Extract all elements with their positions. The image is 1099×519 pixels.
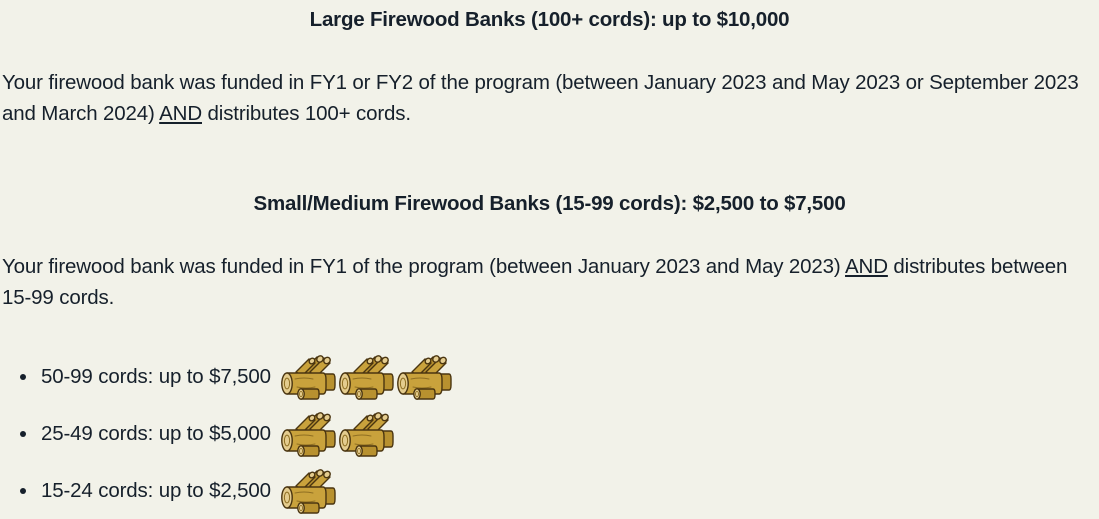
tier-label: 15-24 cords: up to $2,500 (41, 479, 271, 503)
log-group-tier-2 (279, 411, 394, 457)
firewood-bank-funding-tiers-page: Large Firewood Banks (100+ cords): up to… (0, 8, 1099, 516)
firewood-logs-icon (337, 354, 394, 400)
small-medium-banks-heading: Small/Medium Firewood Banks (15-99 cords… (2, 186, 1097, 217)
tier-label: 25-49 cords: up to $5,000 (41, 422, 271, 446)
firewood-logs-icon (337, 411, 394, 457)
list-item: 25-49 cords: up to $5,000 (2, 405, 1097, 462)
firewood-logs-icon (279, 468, 336, 514)
bullet-marker-icon (20, 488, 26, 494)
list-item: 15-24 cords: up to $2,500 (2, 462, 1097, 519)
small-medium-and-emphasis: AND (845, 255, 888, 278)
large-banks-and-emphasis: AND (159, 102, 202, 125)
firewood-logs-icon (279, 354, 336, 400)
large-banks-heading: Large Firewood Banks (100+ cords): up to… (2, 8, 1097, 33)
log-group-tier-3 (279, 468, 336, 514)
small-medium-banks-description: Your firewood bank was funded in FY1 of … (2, 251, 1097, 313)
log-group-tier-1 (279, 354, 452, 400)
funding-tier-list: 50-99 cords: up to $7,500 (2, 348, 1097, 519)
list-item: 50-99 cords: up to $7,500 (2, 348, 1097, 405)
bullet-marker-icon (20, 431, 26, 437)
large-banks-description: Your firewood bank was funded in FY1 or … (2, 67, 1097, 129)
bullet-marker-icon (20, 374, 26, 380)
firewood-logs-icon (395, 354, 452, 400)
large-banks-text-after-and: distributes 100+ cords. (202, 102, 411, 125)
firewood-logs-icon (279, 411, 336, 457)
tier-label: 50-99 cords: up to $7,500 (41, 365, 271, 389)
small-medium-text-before-and: Your firewood bank was funded in FY1 of … (2, 255, 845, 278)
section-spacer (2, 129, 1097, 186)
